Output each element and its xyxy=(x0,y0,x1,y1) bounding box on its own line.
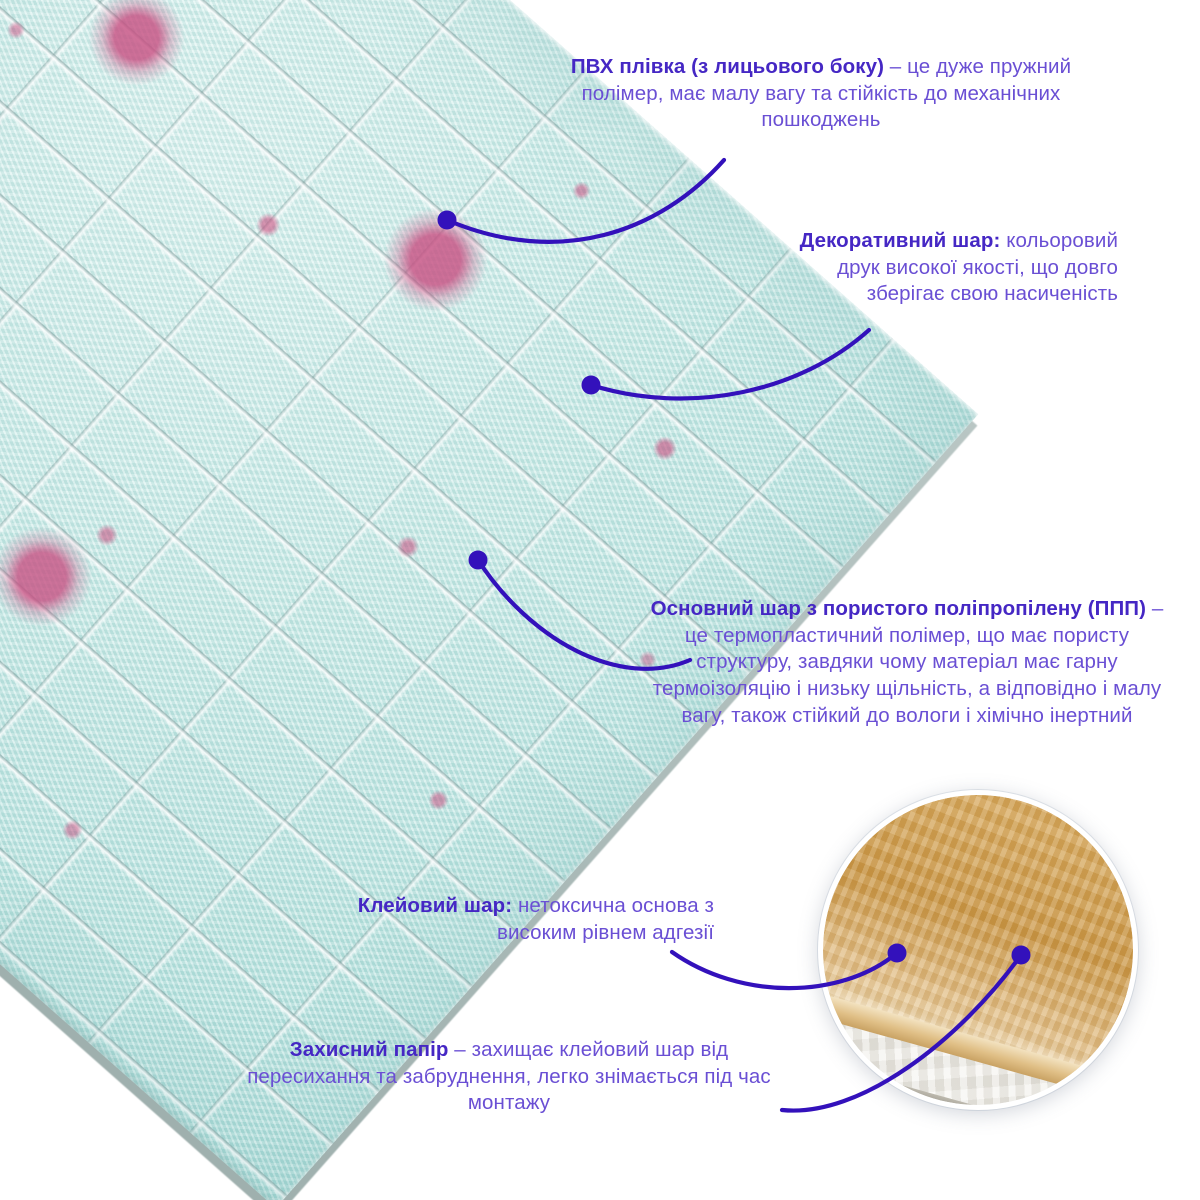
callout-protective-paper: Захисний папір – захищає клейовий шар ві… xyxy=(242,1037,776,1117)
callout-pvc-film-title: ПВХ плівка (з лицьового боку) xyxy=(571,55,884,78)
closeup-content xyxy=(823,795,1133,1105)
callout-adhesive-layer: Клейовий шар: нетоксична основа з високи… xyxy=(300,893,714,946)
callout-adhesive-layer-body: нетоксична основа з високим рівнем адгез… xyxy=(497,894,714,944)
callout-adhesive-layer-title: Клейовий шар: xyxy=(358,894,512,917)
callout-decorative-layer-title: Декоративний шар: xyxy=(800,229,1001,252)
callout-ppp-core: Основний шар з пористого поліпропілену (… xyxy=(642,596,1172,729)
callout-decorative-layer: Декоративний шар: кольоровий друк високо… xyxy=(780,228,1118,308)
callout-protective-paper-title: Захисний папір xyxy=(290,1038,449,1061)
callout-pvc-film: ПВХ плівка (з лицьового боку) – це дуже … xyxy=(560,54,1082,134)
adhesive-backing-closeup xyxy=(818,790,1138,1110)
callout-ppp-core-title: Основний шар з пористого поліпропілену (… xyxy=(651,597,1146,620)
infographic-canvas: ПВХ плівка (з лицьового боку) – це дуже … xyxy=(0,0,1200,1200)
